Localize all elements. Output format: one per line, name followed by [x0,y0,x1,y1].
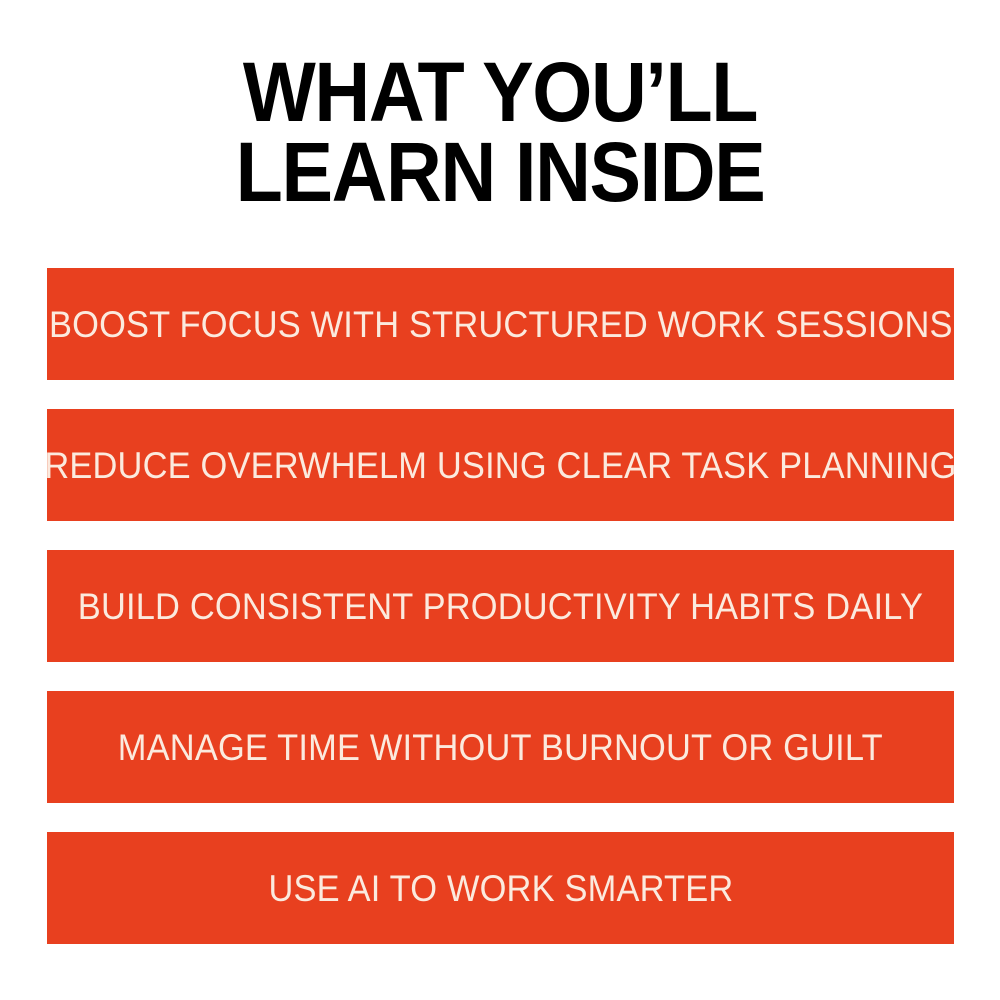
page-title-line-1: WHAT YOU’LL [40,52,960,132]
benefit-bar-label-3: BUILD CONSISTENT PRODUCTIVITY HABITS DAI… [78,588,923,625]
page-title: WHAT YOU’LL LEARN INSIDE [40,52,960,212]
benefit-bar-list: BOOST FOCUS WITH STRUCTURED WORK SESSION… [47,268,954,944]
benefit-bar-5: USE AI TO WORK SMARTER [47,832,954,944]
benefit-bar-3: BUILD CONSISTENT PRODUCTIVITY HABITS DAI… [47,550,954,662]
benefit-bar-label-4: MANAGE TIME WITHOUT BURNOUT OR GUILT [118,729,883,766]
poster-canvas: WHAT YOU’LL LEARN INSIDE BOOST FOCUS WIT… [0,0,1000,1000]
benefit-bar-1: BOOST FOCUS WITH STRUCTURED WORK SESSION… [47,268,954,380]
benefit-bar-4: MANAGE TIME WITHOUT BURNOUT OR GUILT [47,691,954,803]
benefit-bar-2: REDUCE OVERWHELM USING CLEAR TASK PLANNI… [47,409,954,521]
page-title-line-2: LEARN INSIDE [40,132,960,212]
benefit-bar-label-2: REDUCE OVERWHELM USING CLEAR TASK PLANNI… [44,447,956,484]
benefit-bar-label-1: BOOST FOCUS WITH STRUCTURED WORK SESSION… [49,306,953,343]
benefit-bar-label-5: USE AI TO WORK SMARTER [268,870,733,907]
